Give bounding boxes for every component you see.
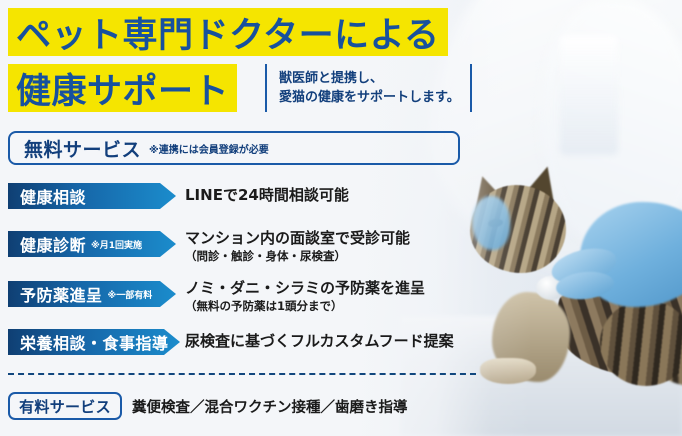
free-service-header: 無料サービス ※連携には会員登録が必要 [8,131,460,165]
service-description: 尿検査に基づくフルカスタムフード提案 [185,332,454,351]
service-description-main: LINEで24時間相談可能 [185,186,349,205]
service-tag: 予防薬進呈 ※一部有料 [8,281,176,307]
service-tag-label: 予防薬進呈 [20,282,103,306]
free-service-label: 無料サービス [24,135,141,162]
service-tag-label: 健康診断 [20,232,86,256]
service-tag-note: ※月1回実施 [91,238,142,251]
service-description: マンション内の面談室で受診可能 （問診・触診・身体・尿検査） [185,229,410,264]
service-description: LINEで24時間相談可能 [185,186,349,205]
subtitle-line-1: 獣医師と提携し、 [279,69,460,88]
service-tag: 栄養相談・食事指導 [8,329,180,355]
service-tag-note: ※一部有料 [108,288,153,301]
paid-service-label-box: 有料サービス [8,392,122,420]
service-tag: 健康診断 ※月1回実施 [8,231,176,257]
paid-service-description: 糞便検査／混合ワクチン接種／歯磨き指導 [132,392,408,420]
headline-subtitle: 獣医師と提携し、 愛猫の健康をサポートします。 [265,64,472,112]
service-description: ノミ・ダニ・シラミの予防薬を進呈 （無料の予防薬は1頭分まで） [185,279,425,314]
paid-service-label: 有料サービス [19,396,111,417]
headline-line-2: 健康サポート [8,64,237,112]
service-description-main: ノミ・ダニ・シラミの予防薬を進呈 [185,279,425,298]
service-tag-label: 健康相談 [20,184,86,208]
free-service-note: ※連携には会員登録が必要 [149,141,269,156]
service-description-main: マンション内の面談室で受診可能 [185,229,410,248]
service-description-sub: （無料の予防薬は1頭分まで） [185,298,425,314]
subtitle-line-2: 愛猫の健康をサポートします。 [279,88,460,107]
banner-content: ペット専門ドクターによる 健康サポート 獣医師と提携し、 愛猫の健康をサポートし… [0,0,682,436]
service-tag: 健康相談 [8,183,176,209]
service-description-sub: （問診・触診・身体・尿検査） [185,248,410,264]
service-description-main: 尿検査に基づくフルカスタムフード提案 [185,332,454,351]
pet-health-support-banner: ペット専門ドクターによる 健康サポート 獣医師と提携し、 愛猫の健康をサポートし… [0,0,682,436]
section-divider [8,373,476,375]
headline-line-1: ペット専門ドクターによる [8,8,448,56]
service-tag-label: 栄養相談・食事指導 [20,330,169,354]
